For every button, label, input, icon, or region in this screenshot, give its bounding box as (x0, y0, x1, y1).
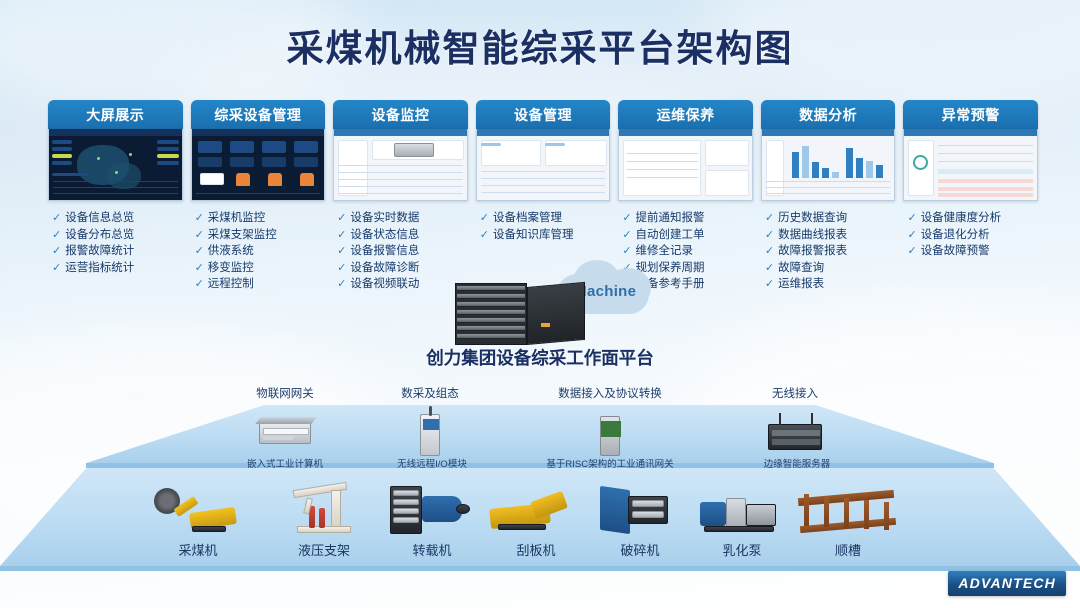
column-bullets: ✓设备实时数据 ✓设备状态信息 ✓设备报警信息 ✓设备故障诊断 ✓设备视频联动 (333, 210, 468, 293)
bullet-label: 设备故障诊断 (350, 260, 419, 277)
list-item: ✓设备报警信息 (337, 243, 468, 260)
list-item: ✓远程控制 (195, 276, 326, 293)
list-item: ✓运营指标统计 (52, 260, 183, 277)
check-icon: ✓ (765, 210, 774, 227)
bullet-label: 设备故障预警 (921, 243, 990, 260)
equipment-label: 顺槽 (808, 540, 888, 559)
bullet-label: 移变监控 (208, 260, 254, 277)
light-table-form-screenshot (476, 129, 611, 201)
check-icon: ✓ (52, 260, 61, 277)
list-item: ✓设备信息总览 (52, 210, 183, 227)
list-item: ✓设备退化分析 (907, 227, 1038, 244)
bullet-label: 设备档案管理 (493, 210, 562, 227)
light-alert-timeline-screenshot (903, 129, 1038, 201)
list-item: ✓设备档案管理 (480, 210, 611, 227)
check-icon: ✓ (195, 227, 204, 244)
column-header[interactable]: 设备监控 (333, 100, 468, 129)
check-icon: ✓ (195, 276, 204, 293)
bullet-label: 报警故障统计 (65, 243, 134, 260)
check-icon: ✓ (337, 227, 346, 244)
check-icon: ✓ (337, 210, 346, 227)
column-zongcaishebeiguanli: 综采设备管理 ✓采煤机监控 ✓采煤支架监控 ✓供液系统 ✓移变监控 ✓远程控制 (191, 100, 326, 300)
check-icon: ✓ (337, 260, 346, 277)
list-item: ✓提前通知报警 (622, 210, 753, 227)
column-bullets: ✓历史数据查询 ✓数据曲线报表 ✓故障报警报表 ✓故障查询 ✓运维报表 (761, 210, 896, 293)
equipment-label: 刮板机 (496, 540, 576, 559)
check-icon: ✓ (907, 210, 916, 227)
list-item: ✓设备状态信息 (337, 227, 468, 244)
column-yichangyujing: 异常预警 ✓设备健康度分析 ✓设备退化分析 ✓设备故障预警 (903, 100, 1038, 300)
check-icon: ✓ (195, 260, 204, 277)
bullet-label: 故障报警报表 (778, 243, 847, 260)
embedded-ipc-icon (259, 422, 311, 444)
gateway-tier (0, 405, 1080, 463)
platform-label: 创力集团设备综采工作面平台 (0, 345, 1080, 370)
check-icon: ✓ (337, 243, 346, 260)
list-item: ✓采煤支架监控 (195, 227, 326, 244)
advantech-logo: ADVANTECH (948, 571, 1066, 596)
light-bar-chart-report-screenshot (761, 129, 896, 201)
list-item: ✓设备分布总览 (52, 227, 183, 244)
crusher-icon (600, 486, 678, 538)
check-icon: ✓ (622, 210, 631, 227)
bullet-label: 自动创建工单 (636, 227, 705, 244)
list-item: ✓自动创建工单 (622, 227, 753, 244)
hydraulic-support-icon (285, 482, 363, 538)
bullet-label: 设备知识库管理 (493, 227, 574, 244)
equipment-label: 液压支架 (284, 540, 364, 559)
check-icon: ✓ (52, 210, 61, 227)
list-item: ✓设备知识库管理 (480, 227, 611, 244)
page-title: 采煤机械智能综采平台架构图 (0, 18, 1080, 72)
column-shebeijiankong: 设备监控 ✓设备实时数据 ✓设备状态信息 ✓设备报警信息 ✓设备故障诊断 ✓设备… (333, 100, 468, 300)
bullet-label: 运营指标统计 (65, 260, 134, 277)
check-icon: ✓ (765, 243, 774, 260)
scraper-conveyor-icon (490, 490, 582, 538)
list-item: ✓运维报表 (765, 276, 896, 293)
column-header[interactable]: 数据分析 (761, 100, 896, 129)
check-icon: ✓ (195, 210, 204, 227)
check-icon: ✓ (765, 227, 774, 244)
bullet-label: 历史数据查询 (778, 210, 847, 227)
check-icon: ✓ (337, 276, 346, 293)
equipment-label: 转载机 (392, 540, 472, 559)
column-bullets: ✓设备档案管理 ✓设备知识库管理 (476, 210, 611, 243)
bullet-label: 设备退化分析 (921, 227, 990, 244)
list-item: ✓设备健康度分析 (907, 210, 1038, 227)
bullet-label: 设备视频联动 (350, 276, 419, 293)
bullet-label: 采煤机监控 (208, 210, 266, 227)
bullet-label: 设备健康度分析 (921, 210, 1002, 227)
wireless-io-module-icon (420, 414, 440, 456)
column-header[interactable]: 综采设备管理 (191, 100, 326, 129)
bullet-label: 设备报警信息 (350, 243, 419, 260)
bullet-label: 故障查询 (778, 260, 824, 277)
list-item: ✓移变监控 (195, 260, 326, 277)
list-item: ✓报警故障统计 (52, 243, 183, 260)
column-header[interactable]: 运维保养 (618, 100, 753, 129)
emulsion-pump-icon (700, 490, 782, 538)
column-header[interactable]: 设备管理 (476, 100, 611, 129)
light-monitor-list-screenshot (333, 129, 468, 201)
bullet-label: 设备状态信息 (350, 227, 419, 244)
bullet-label: 远程控制 (208, 276, 254, 293)
edge-server-icon (768, 424, 822, 450)
list-item: ✓设备故障诊断 (337, 260, 468, 277)
check-icon: ✓ (765, 276, 774, 293)
check-icon: ✓ (907, 243, 916, 260)
equipment-label: 破碎机 (600, 540, 680, 559)
bullet-label: 供液系统 (208, 243, 254, 260)
list-item: ✓数据曲线报表 (765, 227, 896, 244)
check-icon: ✓ (195, 243, 204, 260)
list-item: ✓故障查询 (765, 260, 896, 277)
column-dapingzhanshi: 大屏展示 ✓设备信息总览 ✓设备分布总览 ✓报警故障统计 ✓运营指标统 (48, 100, 183, 300)
column-header[interactable]: 大屏展示 (48, 100, 183, 129)
equipment-label: 采煤机 (158, 540, 238, 559)
list-item: ✓设备实时数据 (337, 210, 468, 227)
gateway-category-label: 数采及组态 (375, 385, 485, 401)
check-icon: ✓ (480, 227, 489, 244)
list-item: ✓供液系统 (195, 243, 326, 260)
bullet-label: 设备实时数据 (350, 210, 419, 227)
check-icon: ✓ (480, 210, 489, 227)
stage-loader-icon (390, 486, 474, 538)
column-bullets: ✓设备信息总览 ✓设备分布总览 ✓报警故障统计 ✓运营指标统计 (48, 210, 183, 276)
check-icon: ✓ (622, 227, 631, 244)
equipment-label: 乳化泵 (702, 540, 782, 559)
gateway-category-label: 无线接入 (740, 385, 850, 401)
bullet-label: 数据曲线报表 (778, 227, 847, 244)
light-workorder-screenshot (618, 129, 753, 201)
check-icon: ✓ (52, 227, 61, 244)
column-bullets: ✓设备健康度分析 ✓设备退化分析 ✓设备故障预警 (903, 210, 1038, 260)
list-item: ✓采煤机监控 (195, 210, 326, 227)
column-bullets: ✓采煤机监控 ✓采煤支架监控 ✓供液系统 ✓移变监控 ✓远程控制 (191, 210, 326, 293)
check-icon: ✓ (765, 260, 774, 277)
list-item: ✓历史数据查询 (765, 210, 896, 227)
shearer-icon (152, 486, 244, 538)
gateway-conveyor-icon (798, 484, 898, 538)
server-rack-icon (455, 283, 585, 345)
check-icon: ✓ (52, 243, 61, 260)
column-shujufenxi: 数据分析 ✓历史数据查询 ✓数据曲线报表 ✓故障报警报表 ✓故障查询 ✓运维报表 (761, 100, 896, 300)
bullet-label: 设备信息总览 (65, 210, 134, 227)
bullet-label: 设备分布总览 (65, 227, 134, 244)
risc-gateway-icon (600, 416, 620, 456)
gateway-category-label: 数据接入及协议转换 (530, 385, 690, 401)
bullet-label: 采煤支架监控 (208, 227, 277, 244)
bullet-label: 运维报表 (778, 276, 824, 293)
gateway-category-label: 物联网网关 (230, 385, 340, 401)
list-item: ✓故障报警报表 (765, 243, 896, 260)
bullet-label: 提前通知报警 (636, 210, 705, 227)
list-item: ✓设备故障预警 (907, 243, 1038, 260)
column-header[interactable]: 异常预警 (903, 100, 1038, 129)
list-item: ✓设备视频联动 (337, 276, 468, 293)
dark-gis-dashboard-screenshot (48, 129, 183, 201)
dark-equipment-tiles-screenshot (191, 129, 326, 201)
check-icon: ✓ (907, 227, 916, 244)
